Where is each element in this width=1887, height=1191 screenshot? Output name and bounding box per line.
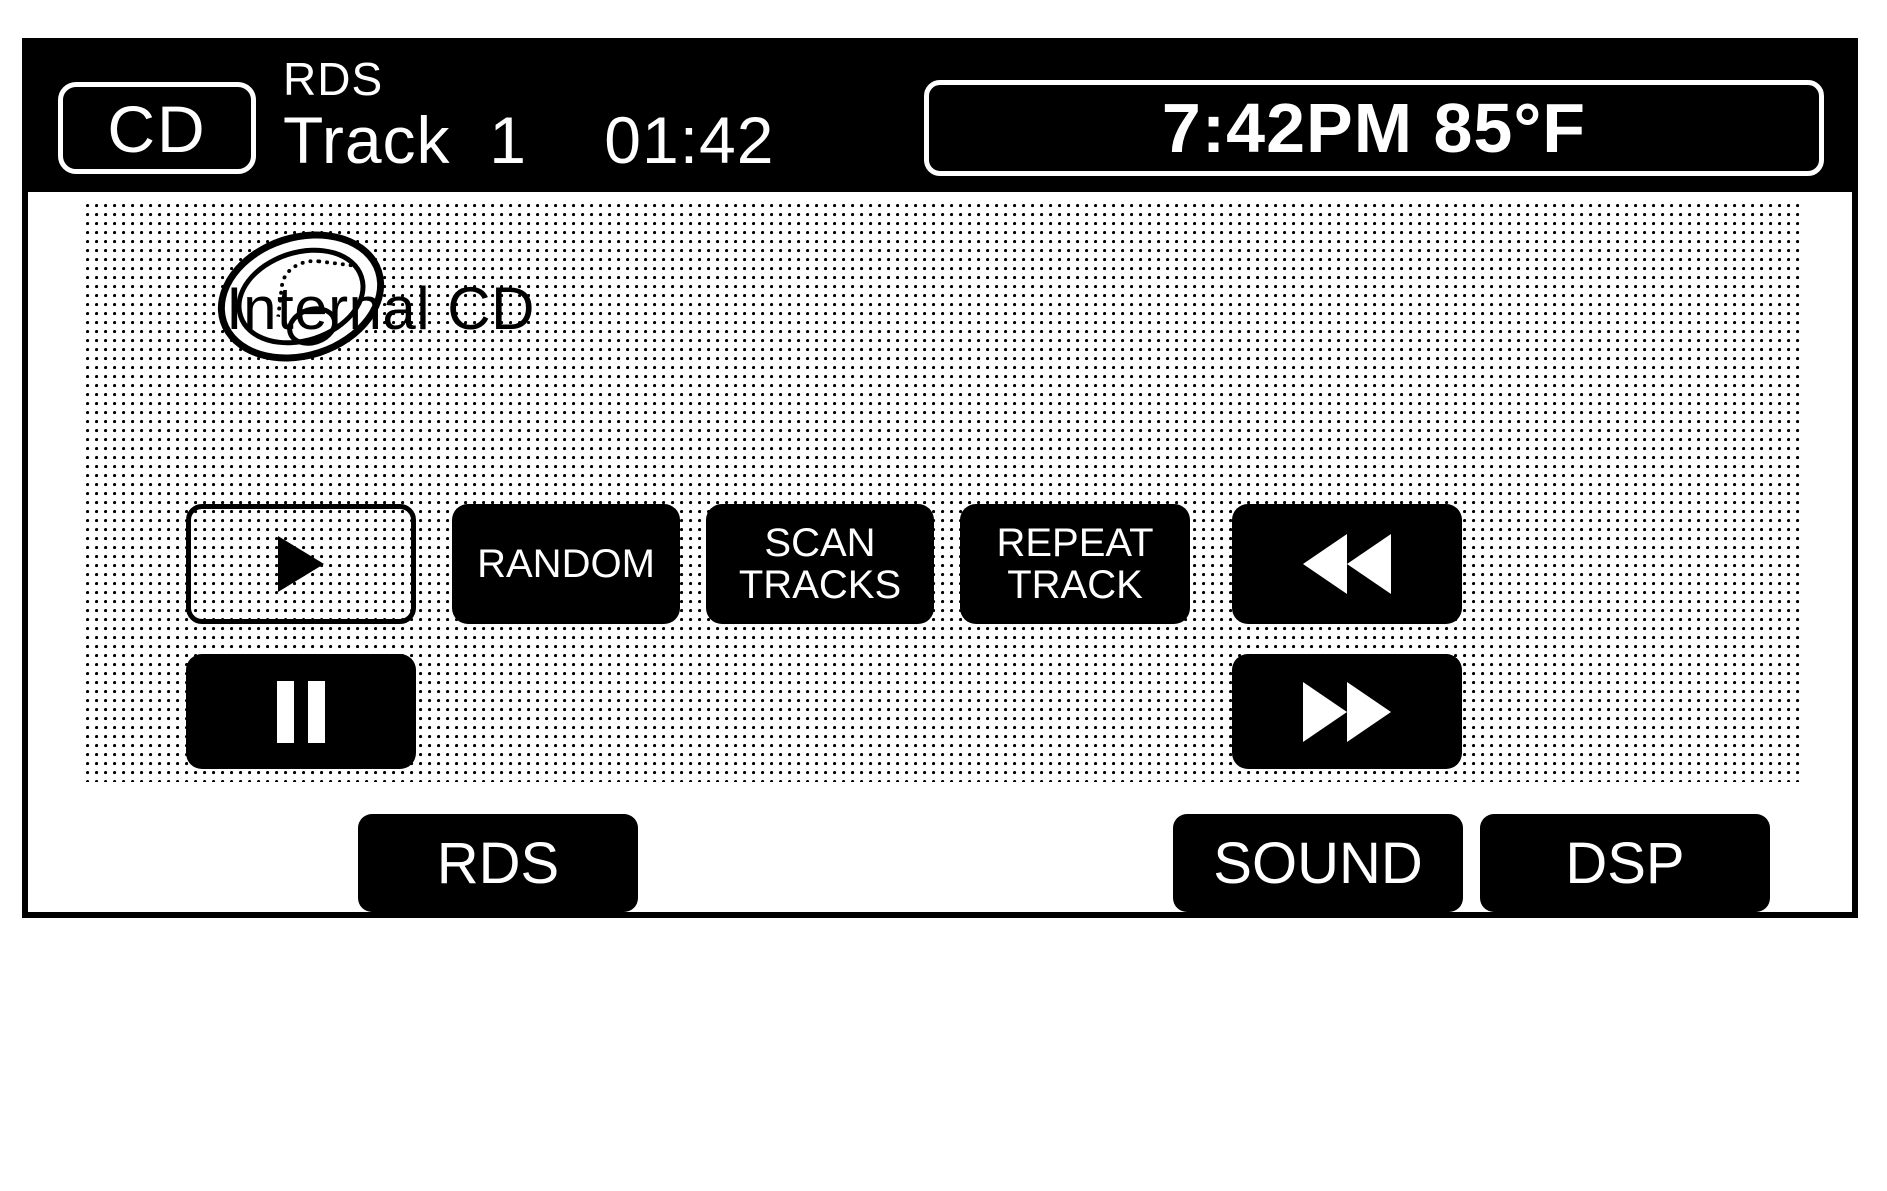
play-icon bbox=[278, 536, 324, 592]
rewind-icon bbox=[1303, 534, 1391, 594]
random-button[interactable]: RANDOM bbox=[452, 504, 680, 624]
scan-tracks-button-label: SCAN TRACKS bbox=[739, 522, 901, 606]
repeat-track-button-label: REPEAT TRACK bbox=[996, 522, 1153, 606]
player-panel: Internal CD RANDOM SCAN TRACKS REPEAT TR… bbox=[86, 204, 1804, 782]
rds-button[interactable]: RDS bbox=[358, 814, 638, 912]
pause-button[interactable] bbox=[186, 654, 416, 769]
rds-indicator: RDS bbox=[283, 52, 383, 106]
rewind-button[interactable] bbox=[1232, 504, 1462, 624]
status-header: CD RDS Track 1 01:42 7:42PM 85°F bbox=[28, 44, 1852, 192]
dsp-button[interactable]: DSP bbox=[1480, 814, 1770, 912]
scan-tracks-button[interactable]: SCAN TRACKS bbox=[706, 504, 934, 624]
source-mode-button[interactable]: CD bbox=[58, 82, 256, 174]
pause-icon bbox=[277, 681, 325, 743]
repeat-track-button[interactable]: REPEAT TRACK bbox=[960, 504, 1190, 624]
play-button[interactable] bbox=[186, 504, 416, 624]
track-info: Track 1 01:42 bbox=[283, 102, 774, 178]
source-label: Internal CD bbox=[226, 274, 535, 343]
sound-button[interactable]: SOUND bbox=[1173, 814, 1463, 912]
fast-forward-icon bbox=[1303, 682, 1391, 742]
head-unit-screen: CD RDS Track 1 01:42 7:42PM 85°F Interna… bbox=[22, 38, 1858, 918]
random-button-label: RANDOM bbox=[477, 543, 655, 585]
fast-forward-button[interactable] bbox=[1232, 654, 1462, 769]
clock-temperature-display: 7:42PM 85°F bbox=[924, 80, 1824, 176]
